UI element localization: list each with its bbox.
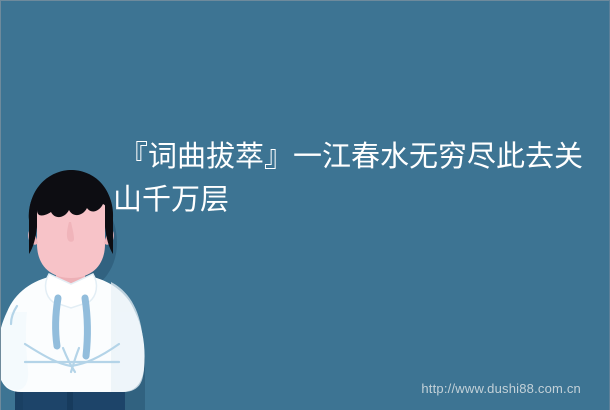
cover-image-canvas: 『词曲拔萃』一江春水无穷尽此去关山千万层 http://www.dushi88.… (0, 0, 610, 410)
page-title: 『词曲拔萃』一江春水无穷尽此去关山千万层 (113, 135, 583, 221)
watermark-url: http://www.dushi88.com.cn (421, 381, 581, 396)
hoodie (0, 274, 145, 392)
